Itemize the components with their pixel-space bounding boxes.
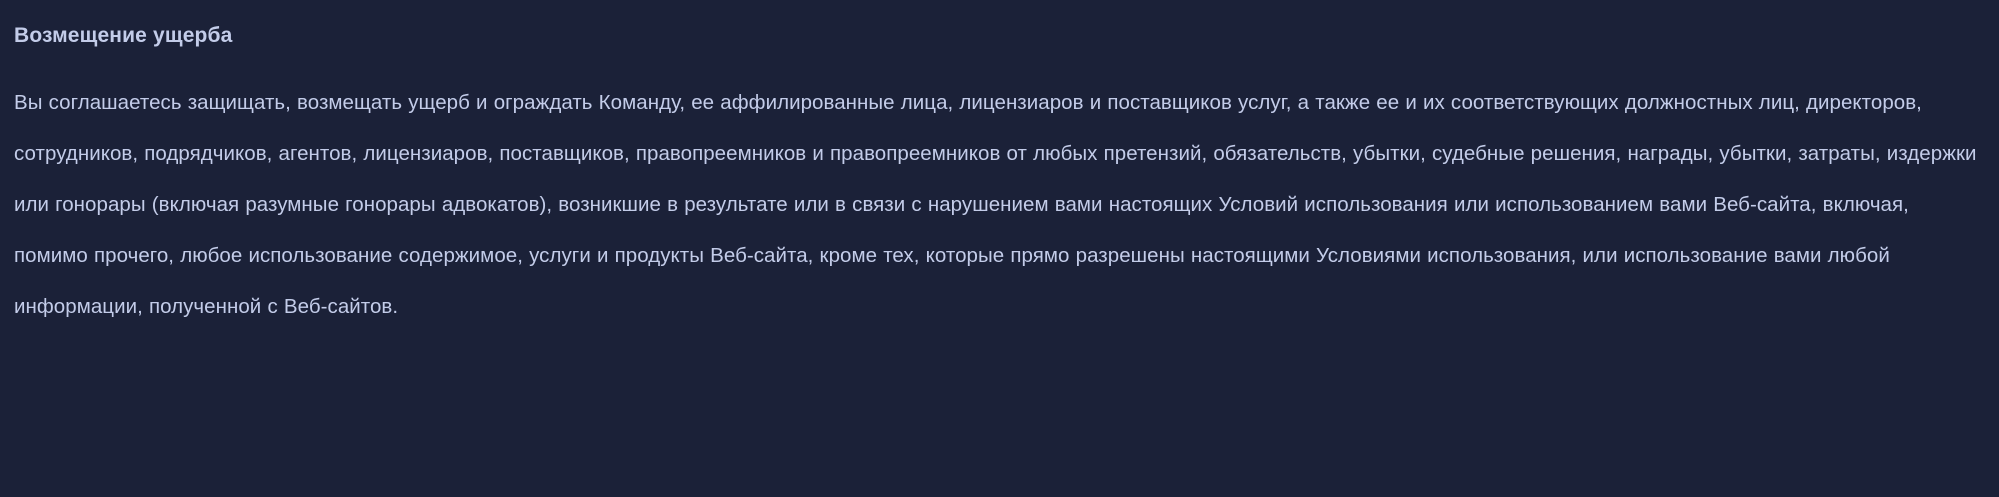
section-body-text: Вы соглашаетесь защищать, возмещать ущер… <box>14 49 1985 332</box>
indemnification-section: Возмещение ущерба Вы соглашаетесь защища… <box>0 0 1999 497</box>
section-heading: Возмещение ущерба <box>14 0 1985 49</box>
